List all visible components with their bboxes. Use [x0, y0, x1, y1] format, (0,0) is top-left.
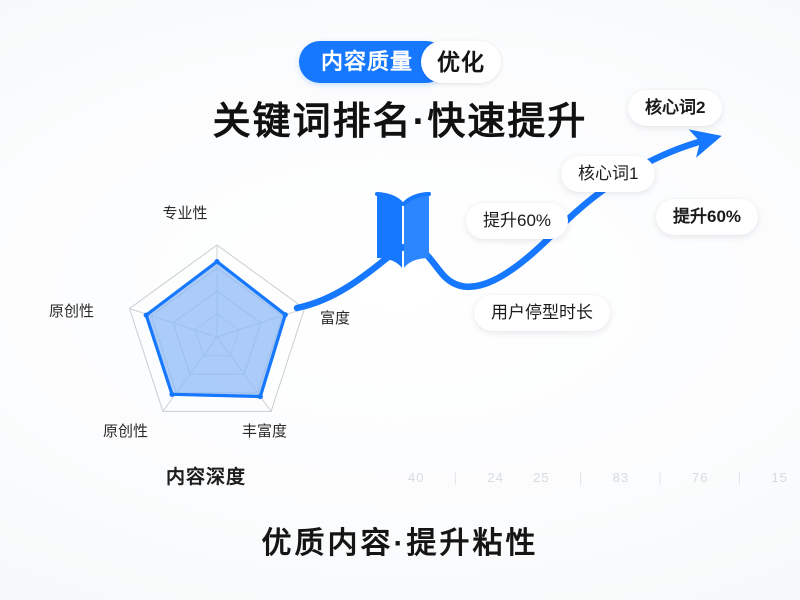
quality-badge: 内容质量 优化 [299, 41, 501, 83]
content-depth-caption: 内容深度 [166, 462, 246, 489]
badge-secondary-label: 优化 [421, 41, 501, 83]
radar-axis-label-1: 富度 [320, 307, 350, 328]
radar-chart: 专业性 富度 丰富度 原创性 原创性 [95, 215, 340, 460]
axis-tick-9: 15 [771, 470, 787, 485]
axis-tick-6: | [658, 470, 662, 485]
chip-keyword-1[interactable]: 核心词1 [561, 156, 655, 192]
axis-tick-7: 76 [692, 470, 708, 485]
axis-tick-2: 24 [487, 470, 503, 485]
axis-tick-4: | [579, 470, 583, 485]
axis-tick-8: | [738, 470, 742, 485]
axis-tick-3: 25 [533, 470, 549, 485]
chip-dwell-time[interactable]: 用户停型时长 [474, 295, 610, 331]
axis-tick-5: 83 [613, 470, 629, 485]
radar-axis-label-0: 专业性 [162, 202, 207, 223]
radar-axis-label-2: 丰富度 [242, 420, 287, 441]
footer-title: 优质内容·提升粘性 [0, 518, 800, 562]
axis-tick-0: 40 [408, 470, 424, 485]
faint-axis-strip: 40 | 24 25 | 83 | 76 | 15 [408, 466, 788, 488]
chip-uplift-left[interactable]: 提升60% [466, 203, 568, 239]
axis-tick-1: | [454, 470, 458, 485]
open-book-icon [373, 188, 433, 276]
chip-keyword-2[interactable]: 核心词2 [628, 90, 722, 126]
chip-uplift-right[interactable]: 提升60% [656, 199, 758, 235]
radar-axis-label-3: 原创性 [103, 420, 148, 441]
radar-axis-label-4: 原创性 [49, 300, 94, 321]
poster-canvas: 内容质量 优化 关键词排名·快速提升 [0, 0, 800, 600]
